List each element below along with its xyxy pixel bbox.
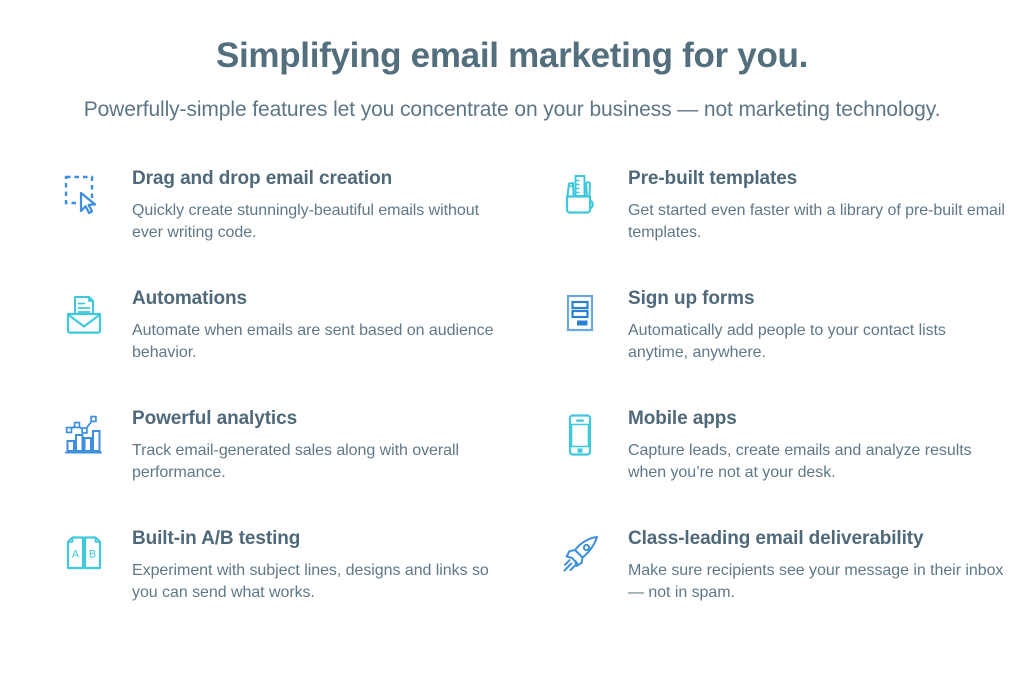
page-subtitle: Powerfully-simple features let you conce…: [0, 96, 1024, 123]
feature-text-block: Pre-built templates Get started even fas…: [606, 168, 1008, 244]
feature-title: Pre-built templates: [628, 168, 1008, 191]
feature-item-drag-and-drop: Drag and drop email creation Quickly cre…: [62, 168, 526, 288]
feature-description: Track email-generated sales along with o…: [132, 440, 512, 484]
feature-landing-page: Simplifying email marketing for you. Pow…: [0, 0, 1024, 689]
feature-item-sign-up-forms: Sign up forms Automatically add people t…: [558, 288, 1022, 408]
feature-description: Capture leads, create emails and analyze…: [628, 440, 1008, 484]
svg-text:A: A: [72, 549, 80, 561]
feature-text-block: Sign up forms Automatically add people t…: [606, 288, 1008, 364]
feature-title: Powerful analytics: [132, 408, 512, 431]
feature-text-block: Built-in A/B testing Experiment with sub…: [110, 528, 512, 604]
feature-item-powerful-analytics: Powerful analytics Track email-generated…: [62, 408, 526, 528]
feature-description: Experiment with subject lines, designs a…: [132, 560, 512, 604]
feature-title: Class-leading email deliverability: [628, 528, 1008, 551]
feature-text-block: Class-leading email deliverability Make …: [606, 528, 1008, 604]
feature-grid: Drag and drop email creation Quickly cre…: [0, 168, 1024, 648]
feature-text-block: Automations Automate when emails are sen…: [110, 288, 512, 364]
feature-title: Mobile apps: [628, 408, 1008, 431]
feature-item-mobile-apps: Mobile apps Capture leads, create emails…: [558, 408, 1022, 528]
feature-title: Drag and drop email creation: [132, 168, 512, 191]
feature-text-block: Drag and drop email creation Quickly cre…: [110, 168, 512, 244]
feature-title: Automations: [132, 288, 512, 311]
feature-title: Sign up forms: [628, 288, 1008, 311]
feature-description: Automatically add people to your contact…: [628, 320, 1008, 364]
feature-description: Get started even faster with a library o…: [628, 200, 1008, 244]
feature-description: Automate when emails are sent based on a…: [132, 320, 512, 364]
feature-item-pre-built-templates: Pre-built templates Get started even fas…: [558, 168, 1022, 288]
rocket-icon: [558, 533, 606, 581]
feature-title: Built-in A/B testing: [132, 528, 512, 551]
feature-item-automations: Automations Automate when emails are sen…: [62, 288, 526, 408]
ab-pages-icon: A B: [62, 533, 110, 581]
hero-section: Simplifying email marketing for you. Pow…: [0, 0, 1024, 123]
drag-and-drop-icon: [62, 173, 110, 221]
feature-item-ab-testing: A B Built-in A/B testing Experiment with…: [62, 528, 526, 648]
feature-item-deliverability: Class-leading email deliverability Make …: [558, 528, 1022, 648]
feature-description: Quickly create stunningly-beautiful emai…: [132, 200, 512, 244]
signup-form-icon: [558, 293, 606, 341]
bar-chart-trend-icon: [62, 413, 110, 461]
feature-description: Make sure recipients see your message in…: [628, 560, 1008, 604]
open-envelope-document-icon: [62, 293, 110, 341]
feature-text-block: Mobile apps Capture leads, create emails…: [606, 408, 1008, 484]
page-title: Simplifying email marketing for you.: [0, 34, 1024, 78]
smartphone-icon: [558, 413, 606, 461]
pencil-cup-icon: [558, 173, 606, 221]
svg-text:B: B: [89, 549, 96, 561]
feature-text-block: Powerful analytics Track email-generated…: [110, 408, 512, 484]
